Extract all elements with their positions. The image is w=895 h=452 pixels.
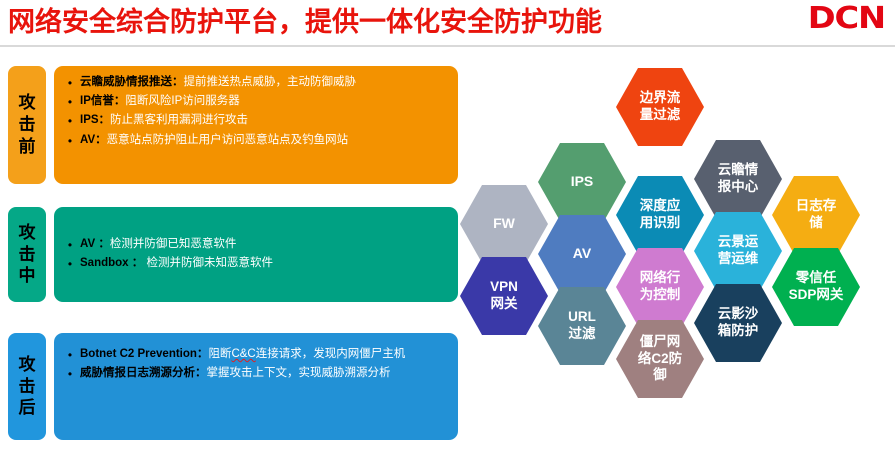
hex-label-line: 零信任 [789, 270, 844, 287]
bullet-marker: • [60, 365, 80, 383]
list-item-term: IPS： [80, 114, 110, 126]
hex-deep-app-id[interactable]: 深度应用识别 [616, 176, 704, 254]
list-item: • IP信誉：阻断风险IP访问服务器 [60, 93, 450, 111]
phase-body-before-attack: • 云瞻威胁情报推送：提前推送热点威胁，主动防御威胁 • IP信誉：阻断风险IP… [54, 66, 458, 184]
list-item-desc: 阻断C&C连接请求，发现内网僵尸主机 [208, 348, 405, 360]
hex-label: FW [493, 215, 515, 232]
list-item-desc: 检测并防御已知恶意软件 [110, 238, 237, 250]
hex-label-line: 深度应 [640, 198, 681, 215]
hex-label: 网络行为控制 [640, 270, 681, 303]
bullet-marker: • [60, 132, 80, 150]
hex-label: 云景运营运维 [718, 234, 759, 267]
hex-label-line: 过滤 [568, 326, 596, 343]
hex-label-line: 报中心 [718, 179, 759, 196]
spellcheck-underlined-text: C&C [231, 348, 255, 360]
hex-label: VPN网关 [490, 279, 518, 312]
hex-label: 深度应用识别 [640, 198, 681, 231]
list-item-text: 云瞻威胁情报推送：提前推送热点威胁，主动防御威胁 [80, 74, 450, 91]
hex-label-line: 为控制 [640, 287, 681, 304]
hex-label-line: 云影沙 [718, 306, 759, 323]
hex-label: 云瞻情报中心 [718, 162, 759, 195]
list-item-desc: 掌握攻击上下文，实现威胁溯源分析 [207, 367, 391, 379]
list-item: • IPS：防止黑客利用漏洞进行攻击 [60, 112, 450, 130]
list-item-term: Sandbox ： [80, 257, 143, 269]
hex-label-line: 边界流 [640, 90, 681, 107]
list-item-desc: 提前推送热点威胁，主动防御威胁 [184, 76, 357, 88]
list-item-desc: 恶意站点防护阻止用户访问恶意站点及钓鱼网站 [107, 134, 349, 146]
list-item-text: Botnet C2 Prevention：阻断C&C连接请求，发现内网僵尸主机 [80, 346, 450, 363]
hex-label: IPS [571, 173, 594, 190]
hex-label-line: VPN [490, 279, 518, 296]
bullet-marker: • [60, 346, 80, 364]
bullet-marker: • [60, 255, 80, 273]
list-item-term: IP信誉： [80, 95, 125, 107]
list-item-term: 云瞻威胁情报推送： [80, 76, 184, 88]
hex-botnet-c2-defense[interactable]: 僵尸网络C2防御 [616, 320, 704, 398]
bullet-marker: • [60, 93, 80, 111]
hex-edge-traffic-filter[interactable]: 边界流量过滤 [616, 68, 704, 146]
hex-ips[interactable]: IPS [538, 143, 626, 221]
hex-label-line: 用识别 [640, 215, 681, 232]
phase-tab-char: 攻 [19, 354, 36, 376]
hex-label: 日志存储 [796, 198, 837, 231]
hex-label-line: URL [568, 309, 596, 326]
hex-url-filter[interactable]: URL过滤 [538, 287, 626, 365]
hex-label: 零信任SDP网关 [789, 270, 844, 303]
hex-label-line: 箱防护 [718, 323, 759, 340]
page-header: 网络安全综合防护平台，提供一体化安全防护功能 DCN [0, 0, 895, 48]
hex-label-line: 储 [796, 215, 837, 232]
bullet-marker: • [60, 112, 80, 130]
phase-tab-char: 攻 [19, 222, 36, 244]
list-item-text: IPS：防止黑客利用漏洞进行攻击 [80, 112, 450, 129]
hex-label-line: 云瞻情 [718, 162, 759, 179]
dcn-logo: DCN [808, 2, 885, 36]
hex-label-line: SDP网关 [789, 287, 844, 304]
hex-label-line: FW [493, 215, 515, 232]
phase-tab-after-attack[interactable]: 攻 击 后 [8, 333, 46, 440]
phase-tab-char: 后 [19, 397, 36, 419]
hex-label: 僵尸网络C2防御 [638, 334, 682, 384]
phase-tab-char: 击 [19, 244, 36, 266]
hex-label-line: 日志存 [796, 198, 837, 215]
hex-label: URL过滤 [568, 309, 596, 342]
hex-log-storage[interactable]: 日志存储 [772, 176, 860, 254]
bullet-marker: • [60, 236, 80, 254]
hex-av[interactable]: AV [538, 215, 626, 293]
list-item-desc: 阻断风险IP访问服务器 [125, 95, 239, 107]
hex-label-line: 络C2防 [638, 351, 682, 368]
hex-zero-trust-sdp[interactable]: 零信任SDP网关 [772, 248, 860, 326]
header-divider [0, 45, 895, 47]
list-item: • AV ：检测并防御已知恶意软件 [60, 236, 450, 254]
list-item: • 云瞻威胁情报推送：提前推送热点威胁，主动防御威胁 [60, 74, 450, 92]
phase-tab-before-attack[interactable]: 攻 击 前 [8, 66, 46, 184]
list-item-desc: 检测并防御未知恶意软件 [143, 257, 273, 269]
phase-body-after-attack: • Botnet C2 Prevention：阻断C&C连接请求，发现内网僵尸主… [54, 333, 458, 440]
hex-vpn-gateway[interactable]: VPN网关 [460, 257, 548, 335]
phase-tab-char: 前 [19, 136, 36, 158]
bullet-marker: • [60, 74, 80, 92]
phase-tab-char: 击 [19, 114, 36, 136]
hex-network-behavior-control[interactable]: 网络行为控制 [616, 248, 704, 326]
list-item-text: AV：恶意站点防护阻止用户访问恶意站点及钓鱼网站 [80, 132, 450, 149]
hex-label-line: 网关 [490, 296, 518, 313]
hex-label-line: 网络行 [640, 270, 681, 287]
hex-label-line: 云景运 [718, 234, 759, 251]
list-item: • Sandbox ： 检测并防御未知恶意软件 [60, 255, 450, 273]
list-item-text: IP信誉：阻断风险IP访问服务器 [80, 93, 450, 110]
phase-tab-char: 攻 [19, 92, 36, 114]
hex-yunying-sandbox[interactable]: 云影沙箱防护 [694, 284, 782, 362]
phase-tab-char: 中 [19, 265, 36, 287]
list-item-term: Botnet C2 Prevention： [80, 348, 208, 360]
hex-label-line: IPS [571, 173, 594, 190]
list-item-term: AV ： [80, 238, 110, 250]
capability-honeycomb: FWVPN网关IPSAVURL过滤边界流量过滤深度应用识别网络行为控制僵尸网络C… [455, 55, 895, 452]
hex-label-line: 僵尸网 [638, 334, 682, 351]
hex-label-line: 营运维 [718, 251, 759, 268]
phase-body-during-attack: • AV ：检测并防御已知恶意软件 • Sandbox ： 检测并防御未知恶意软… [54, 207, 458, 302]
list-item-text: 威胁情报日志溯源分析：掌握攻击上下文，实现威胁溯源分析 [80, 365, 450, 382]
hex-label-line: 御 [638, 367, 682, 384]
hex-fw[interactable]: FW [460, 185, 548, 263]
hex-yunjing-ops[interactable]: 云景运营运维 [694, 212, 782, 290]
list-item-desc: 防止黑客利用漏洞进行攻击 [110, 114, 248, 126]
page-title: 网络安全综合防护平台，提供一体化安全防护功能 [8, 2, 602, 42]
hex-yunzhan-intel-center[interactable]: 云瞻情报中心 [694, 140, 782, 218]
list-item: • AV：恶意站点防护阻止用户访问恶意站点及钓鱼网站 [60, 132, 450, 150]
hex-label-line: AV [573, 245, 591, 262]
hex-label: 边界流量过滤 [640, 90, 681, 123]
list-item-text: Sandbox ： 检测并防御未知恶意软件 [80, 255, 450, 272]
list-item-term: AV： [80, 134, 107, 146]
phase-tab-char: 击 [19, 376, 36, 398]
hex-label-line: 量过滤 [640, 107, 681, 124]
list-item: • Botnet C2 Prevention：阻断C&C连接请求，发现内网僵尸主… [60, 346, 450, 364]
list-item-text: AV ：检测并防御已知恶意软件 [80, 236, 450, 253]
hex-label: 云影沙箱防护 [718, 306, 759, 339]
list-item: • 威胁情报日志溯源分析：掌握攻击上下文，实现威胁溯源分析 [60, 365, 450, 383]
phase-tab-during-attack[interactable]: 攻 击 中 [8, 207, 46, 302]
list-item-term: 威胁情报日志溯源分析： [80, 367, 207, 379]
hex-label: AV [573, 245, 591, 262]
